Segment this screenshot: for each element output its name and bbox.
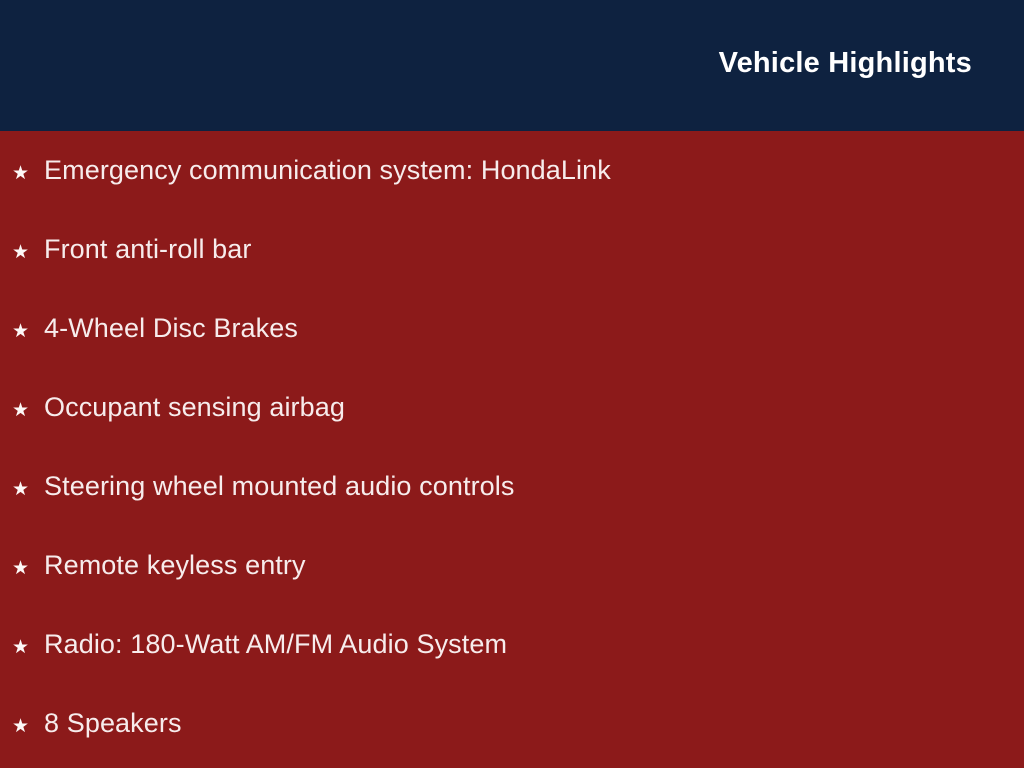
list-item: ★ Front anti-roll bar <box>12 234 251 268</box>
list-item: ★ Remote keyless entry <box>12 550 306 584</box>
list-item-label: Emergency communication system: HondaLin… <box>34 155 611 185</box>
list-item: ★ 8 Speakers <box>12 708 182 742</box>
list-item-label: 4-Wheel Disc Brakes <box>34 313 298 343</box>
list-item: ★ Emergency communication system: HondaL… <box>12 155 611 189</box>
page-title: Vehicle Highlights <box>719 45 972 81</box>
list-item-label: Front anti-roll bar <box>34 234 251 264</box>
list-item: ★ 4-Wheel Disc Brakes <box>12 313 298 347</box>
list-item: ★ Radio: 180-Watt AM/FM Audio System <box>12 629 507 663</box>
star-icon: ★ <box>12 396 34 426</box>
star-icon: ★ <box>12 475 34 505</box>
star-icon: ★ <box>12 712 34 742</box>
vehicle-highlights-slide: Vehicle Highlights ★ Emergency communica… <box>0 0 1024 768</box>
star-icon: ★ <box>12 633 34 663</box>
star-icon: ★ <box>12 317 34 347</box>
star-icon: ★ <box>12 554 34 584</box>
header-bar: Vehicle Highlights <box>0 0 1024 131</box>
list-item: ★ Occupant sensing airbag <box>12 392 345 426</box>
star-icon: ★ <box>12 238 34 268</box>
list-item-label: Steering wheel mounted audio controls <box>34 471 515 501</box>
vehicle-highlights-list: ★ Emergency communication system: HondaL… <box>0 131 1024 768</box>
list-item-label: Remote keyless entry <box>34 550 306 580</box>
list-item: ★ Steering wheel mounted audio controls <box>12 471 515 505</box>
star-icon: ★ <box>12 159 34 189</box>
list-item-label: Radio: 180-Watt AM/FM Audio System <box>34 629 507 659</box>
list-item-label: 8 Speakers <box>34 708 182 738</box>
list-item-label: Occupant sensing airbag <box>34 392 345 422</box>
